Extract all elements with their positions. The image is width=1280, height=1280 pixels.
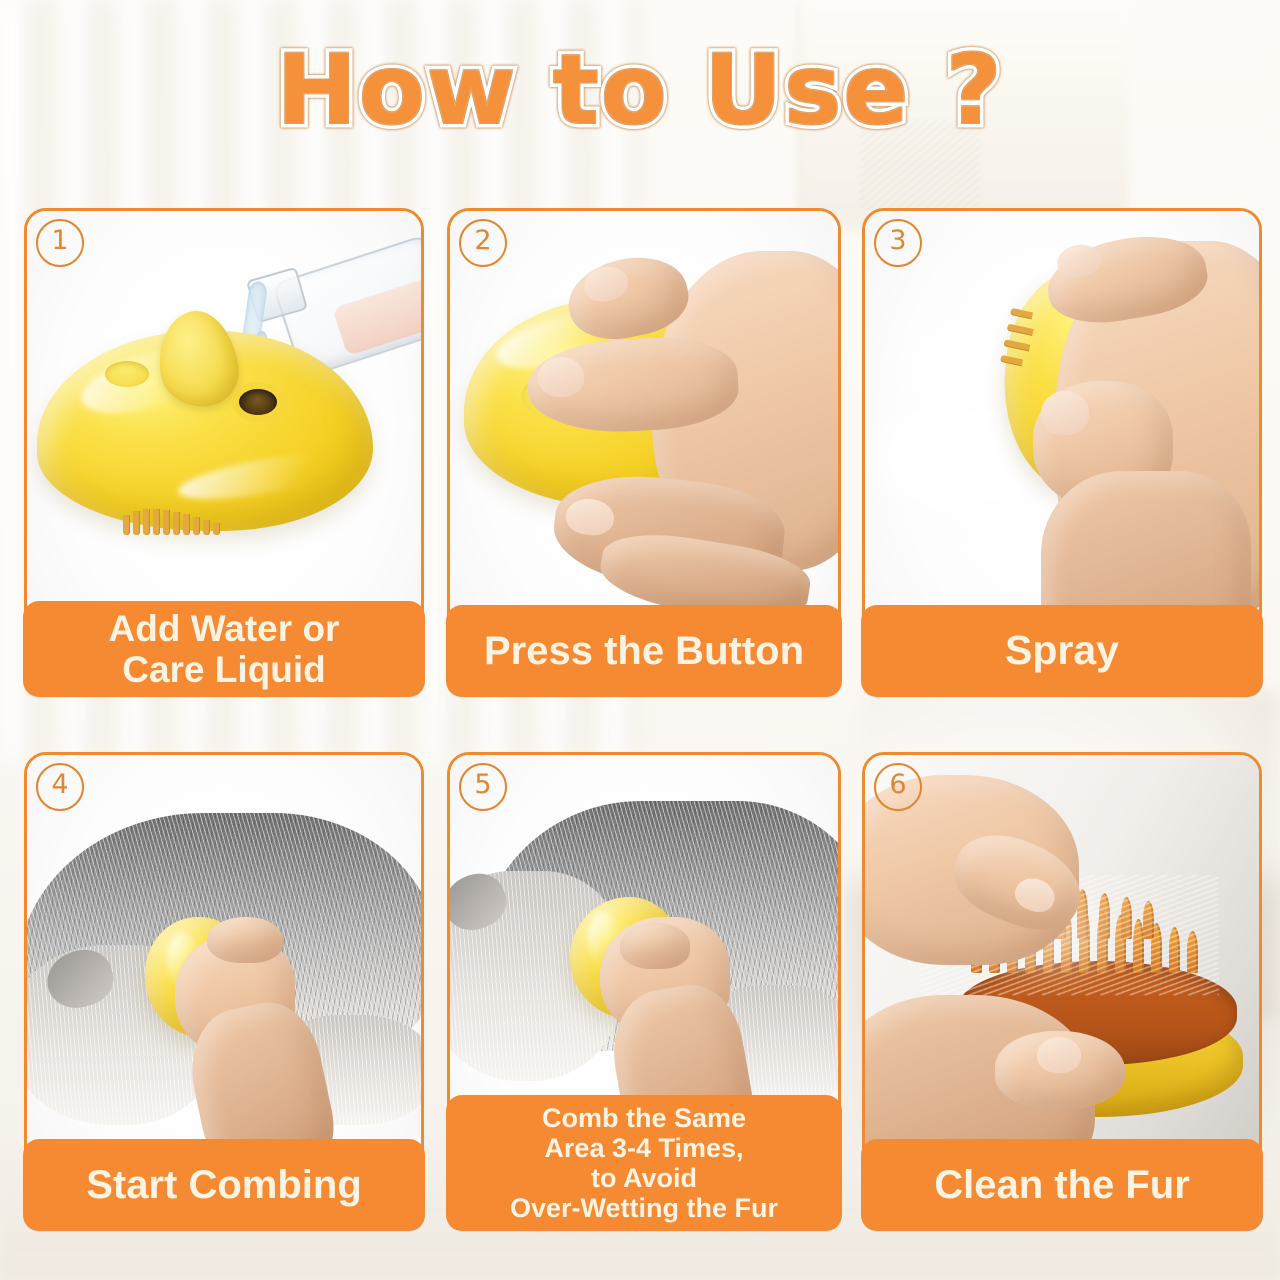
step-2-caption: Press the Button [446,605,842,697]
step-1-badge: 1 [36,219,84,267]
brush-bristles [123,509,220,535]
step-5-caption-line-2: Area 3-4 Times, [510,1133,778,1163]
step-card-4[interactable]: 4 Start Combing [24,752,424,1228]
brush-power-button [105,361,149,387]
step-card-6[interactable]: 6 Clean the Fur [862,752,1262,1228]
bottle-liquid [332,275,421,357]
step-5-caption-line-3: to Avoid [510,1163,778,1193]
middle-fingernail [538,357,584,397]
step-5-caption-line-1: Comb the Same [510,1103,778,1133]
step-4-badge: 4 [36,763,84,811]
step-3-caption-line-1: Spray [1005,628,1119,674]
thumbnail [1041,391,1089,435]
step-1-caption: Add Water or Care Liquid [23,601,425,697]
step-6-badge: 6 [874,763,922,811]
thumb [207,917,283,963]
step-2-badge: 2 [459,219,507,267]
step-5-badge: 5 [459,763,507,811]
step-card-2[interactable]: 2 Press the Button [447,208,841,694]
step-2-caption-line-1: Press the Button [484,629,804,674]
step-card-1[interactable]: 1 Add Water or Care Liquid [24,208,424,694]
step-1-caption-line-2: Care Liquid [109,649,340,690]
step-1-caption-line-1: Add Water or [109,608,340,649]
step-5-caption: Comb the Same Area 3-4 Times, to Avoid O… [446,1095,842,1231]
step-4-caption: Start Combing [23,1139,425,1231]
step-4-caption-line-1: Start Combing [86,1163,362,1208]
infographic-root: How to Use ? [0,0,1280,1280]
step-5-caption-line-4: Over-Wetting the Fur [510,1193,778,1223]
step-3-caption: Spray [861,605,1263,697]
thumbnail [1037,1037,1081,1073]
step-card-5[interactable]: 5 Comb the Same Area 3-4 Times, to Avoid… [447,752,841,1228]
step-6-caption: Clean the Fur [861,1139,1263,1231]
steps-grid: 1 Add Water or Care Liquid [0,0,1280,1280]
brush-fill-hole [239,389,277,415]
thumb [620,923,690,969]
step-3-badge: 3 [874,219,922,267]
step-6-caption-line-1: Clean the Fur [934,1163,1190,1208]
step-card-3[interactable]: 3 Spray [862,208,1262,694]
